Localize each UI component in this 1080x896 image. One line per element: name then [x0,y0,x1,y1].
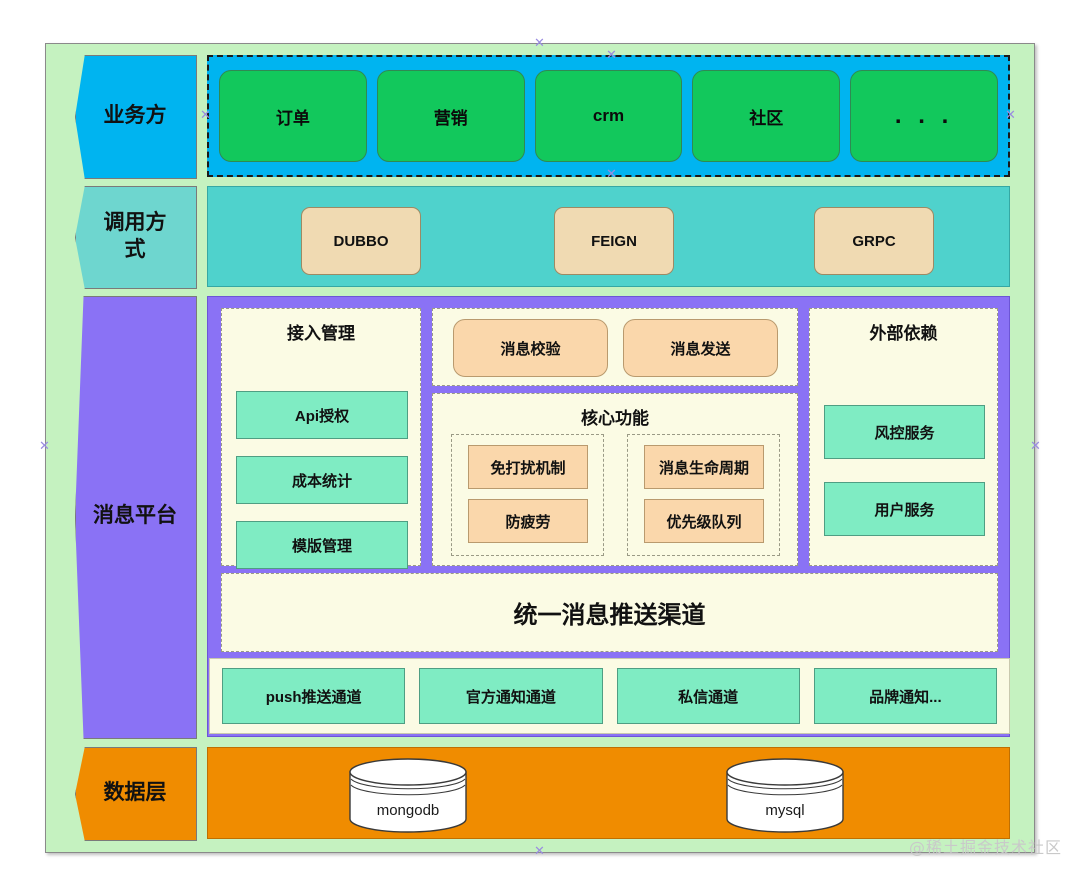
external-item-risk-control[interactable]: 风控服务 [824,405,985,459]
core-item-dnd[interactable]: 免打扰机制 [468,445,588,489]
band-label-business-text: 业务方 [100,103,171,129]
access-item-template-mgmt-label: 模版管理 [292,535,352,556]
channel-brand-label: 品牌通知... [869,686,942,707]
invoke-card-feign-label: FEIGN [591,233,637,250]
external-dependency-title: 外部依赖 [810,319,997,344]
band-label-platform[interactable]: 消息平台 [75,296,195,737]
external-item-risk-control-label: 风控服务 [874,422,934,443]
message-ops-panel: 消息校验 消息发送 [432,308,798,386]
business-card-more-label: . . . [895,102,953,130]
band-label-data-text: 数据层 [100,780,171,806]
access-item-api-auth[interactable]: Api授权 [236,391,408,439]
business-card-marketing-label: 营销 [434,104,468,129]
message-ops-send[interactable]: 消息发送 [623,319,778,377]
channel-brand[interactable]: 品牌通知... [814,668,997,724]
band-label-invoke[interactable]: 调用方 式 [75,186,195,287]
core-item-anti-fatigue[interactable]: 防疲劳 [468,499,588,543]
band-label-business[interactable]: 业务方 [75,55,195,177]
access-management-panel: 接入管理 Api授权 成本统计 模版管理 [221,308,421,566]
core-item-priority-queue[interactable]: 优先级队列 [644,499,764,543]
core-item-priority-queue-label: 优先级队列 [666,511,741,532]
invoke-row-body: DUBBO FEIGN GRPC [207,186,1010,287]
invoke-card-feign[interactable]: FEIGN [554,207,674,275]
core-group-1: 免打扰机制 防疲劳 [451,434,604,556]
business-card-community[interactable]: 社区 [692,70,840,162]
invoke-card-dubbo-label: DUBBO [334,233,389,250]
access-item-template-mgmt[interactable]: 模版管理 [236,521,408,569]
external-dependency-panel: 外部依赖 风控服务 用户服务 [809,308,998,566]
database-cylinder-mysql[interactable]: mysql [725,758,845,833]
band-label-data[interactable]: 数据层 [75,747,195,839]
access-management-title: 接入管理 [222,319,420,344]
core-item-dnd-label: 免打扰机制 [490,457,565,478]
core-item-lifecycle-label: 消息生命周期 [659,457,749,478]
business-card-more[interactable]: . . . [850,70,998,162]
channel-private-message-label: 私信通道 [678,686,738,707]
database-label-mysql: mysql [725,802,845,819]
channel-private-message[interactable]: 私信通道 [617,668,800,724]
unified-push-channel-label: 统一消息推送渠道 [514,595,706,630]
access-item-api-auth-label: Api授权 [295,405,349,426]
core-functions-title: 核心功能 [433,404,797,429]
diagram-canvas: 业务方 订单 营销 crm 社区 . . . 调用方 式 DUBBO [0,0,1080,896]
invoke-card-dubbo[interactable]: DUBBO [301,207,421,275]
external-item-user-service[interactable]: 用户服务 [824,482,985,536]
channel-push-label: push推送通道 [266,686,362,707]
invoke-card-grpc[interactable]: GRPC [814,207,934,275]
message-ops-send-label: 消息发送 [670,338,730,359]
business-card-community-label: 社区 [749,104,783,129]
cylinder-icon-mongodb [348,758,468,833]
message-ops-verify-label: 消息校验 [500,338,560,359]
access-item-cost-stats[interactable]: 成本统计 [236,456,408,504]
core-item-anti-fatigue-label: 防疲劳 [505,511,550,532]
channel-strip: push推送通道 官方通知通道 私信通道 品牌通知... [209,658,1010,734]
core-group-2: 消息生命周期 优先级队列 [627,434,780,556]
watermark: @稀土掘金技术社区 [909,834,1062,858]
business-card-crm-label: crm [593,106,624,126]
core-functions-panel: 核心功能 免打扰机制 防疲劳 消息生命周期 优先级队列 [432,393,798,566]
band-label-invoke-text: 调用方 式 [100,210,171,263]
channel-push[interactable]: push推送通道 [222,668,405,724]
business-card-list: 订单 营销 crm 社区 . . . [209,57,1008,175]
band-label-platform-text: 消息平台 [89,503,181,529]
database-cylinder-mongodb[interactable]: mongodb [348,758,468,833]
channel-official[interactable]: 官方通知通道 [419,668,602,724]
data-row-body: mongodb mysql [207,747,1010,839]
business-card-order-label: 订单 [276,104,310,129]
database-label-mongodb: mongodb [348,802,468,819]
invoke-card-grpc-label: GRPC [852,233,895,250]
business-card-marketing[interactable]: 营销 [377,70,525,162]
channel-official-label: 官方通知通道 [466,686,556,707]
external-item-user-service-label: 用户服务 [874,499,934,520]
cylinder-icon-mysql [725,758,845,833]
business-row-body: 订单 营销 crm 社区 . . . [207,55,1010,177]
unified-push-channel[interactable]: 统一消息推送渠道 [221,573,998,652]
core-item-lifecycle[interactable]: 消息生命周期 [644,445,764,489]
access-item-cost-stats-label: 成本统计 [292,470,352,491]
platform-row-body: 接入管理 Api授权 成本统计 模版管理 消息校验 消息发送 核心功能 [207,296,1010,737]
business-card-order[interactable]: 订单 [219,70,367,162]
message-ops-verify[interactable]: 消息校验 [453,319,608,377]
business-card-crm[interactable]: crm [535,70,683,162]
